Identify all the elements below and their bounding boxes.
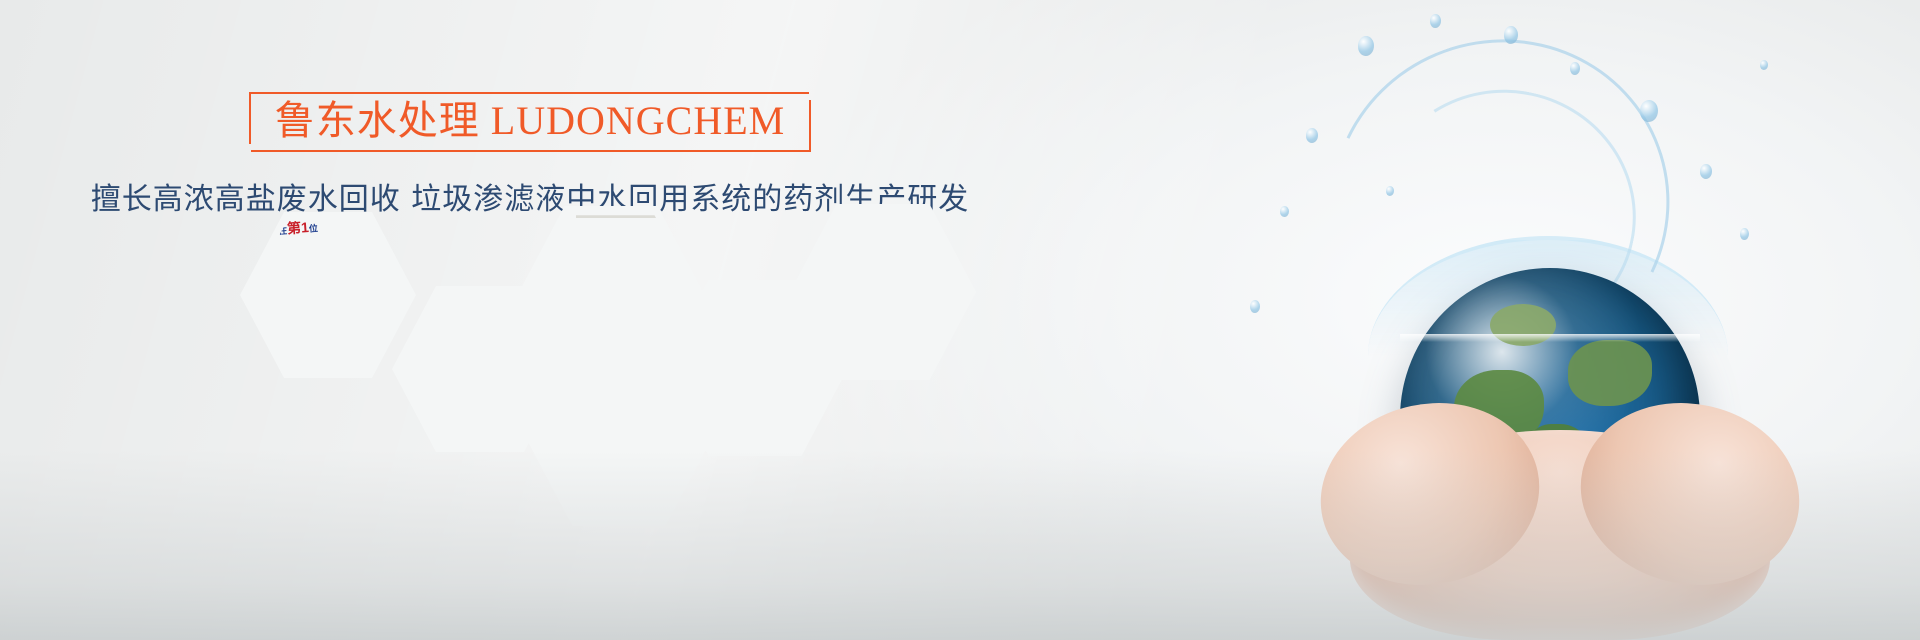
splash-arc-2	[1353, 66, 1659, 365]
title-rule-top	[275, 92, 809, 94]
water-drop	[1570, 62, 1580, 75]
water-drop	[1386, 186, 1394, 196]
water-splash-artwork	[1100, 0, 1920, 640]
hexagon-photo-cluster: 放在第1位	[240, 212, 960, 532]
right-hand	[1564, 383, 1817, 605]
brand-title-frame: 鲁东水处理 LUDONGCHEM	[249, 92, 811, 152]
hero-banner: 鲁东水处理 LUDONGCHEM 擅长高浓高盐废水回收 垃圾渗滤液中水回用系统的…	[0, 0, 1920, 640]
water-drop	[1640, 100, 1658, 122]
left-hand	[1304, 383, 1557, 605]
bracket-bottom-right-icon	[781, 100, 811, 152]
earth-globe	[1400, 268, 1700, 568]
brand-title: 鲁东水处理 LUDONGCHEM	[275, 98, 785, 144]
water-drop	[1760, 60, 1768, 70]
water-drop	[1306, 128, 1318, 143]
splash-arc-1	[1284, 0, 1716, 418]
water-drop	[1504, 26, 1518, 44]
water-drop	[1250, 300, 1260, 313]
water-drop	[1430, 14, 1441, 28]
title-rule-bottom	[251, 150, 785, 152]
hands-holding-globe	[1350, 430, 1770, 640]
splash-crown	[1368, 236, 1728, 356]
water-drop	[1358, 36, 1374, 56]
water-drop	[1740, 228, 1749, 240]
water-drop	[1280, 206, 1289, 217]
water-drop	[1700, 164, 1712, 179]
headline-block: 鲁东水处理 LUDONGCHEM 擅长高浓高盐废水回收 垃圾渗滤液中水回用系统的…	[0, 92, 1060, 218]
